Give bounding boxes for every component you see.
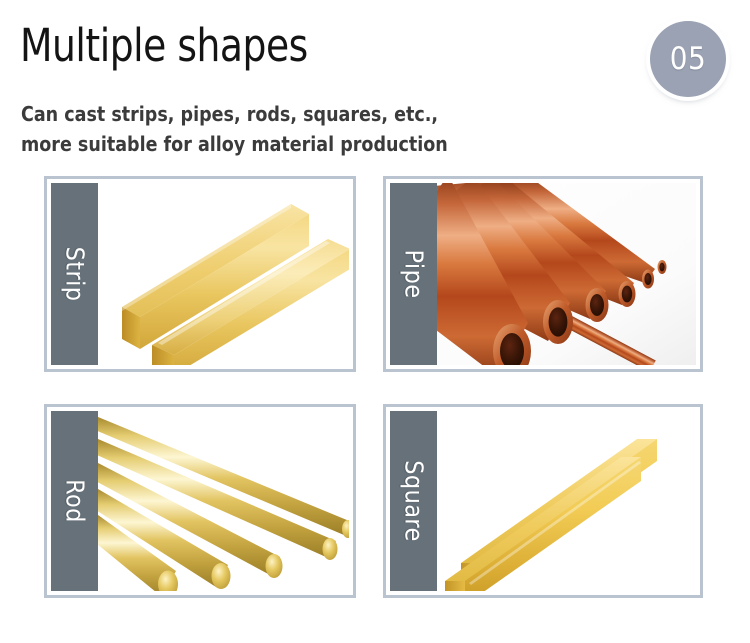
shape-card-pipe[interactable]: Pipe <box>383 176 703 372</box>
shape-card-square[interactable]: Square <box>383 404 703 598</box>
step-number-badge: 05 <box>650 21 726 97</box>
brass-strip-illustration <box>98 183 349 365</box>
shape-card-rod-label: Rod <box>60 479 89 523</box>
brass-rods-photo <box>98 411 349 591</box>
shape-card-square-label-band: Square <box>390 411 437 591</box>
shape-card-strip-label-band: Strip <box>51 183 98 365</box>
page-subtitle-line-2: more suitable for alloy material product… <box>21 129 591 159</box>
page-title: Multiple shapes <box>20 20 308 72</box>
brass-strip-bars-photo <box>98 183 349 365</box>
shape-card-grid: Strip <box>0 172 750 602</box>
step-number-badge-label: 05 <box>670 41 706 77</box>
shape-card-strip-label: Strip <box>60 247 89 302</box>
page-subtitle: Can cast strips, pipes, rods, squares, e… <box>21 99 591 159</box>
page-header: Multiple shapes Can cast strips, pipes, … <box>0 0 750 172</box>
shape-card-rod[interactable]: Rod <box>44 404 356 598</box>
brass-square-bars-photo <box>437 411 696 591</box>
shape-card-strip[interactable]: Strip <box>44 176 356 372</box>
brass-rods-illustration <box>98 411 349 591</box>
shape-card-pipe-label: Pipe <box>399 250 428 299</box>
brass-square-illustration <box>437 411 696 591</box>
shape-card-pipe-label-band: Pipe <box>390 183 437 365</box>
shape-card-rod-label-band: Rod <box>51 411 98 591</box>
page-subtitle-line-1: Can cast strips, pipes, rods, squares, e… <box>21 99 591 129</box>
footer-whitespace <box>0 602 750 643</box>
shape-card-square-label: Square <box>399 460 428 542</box>
